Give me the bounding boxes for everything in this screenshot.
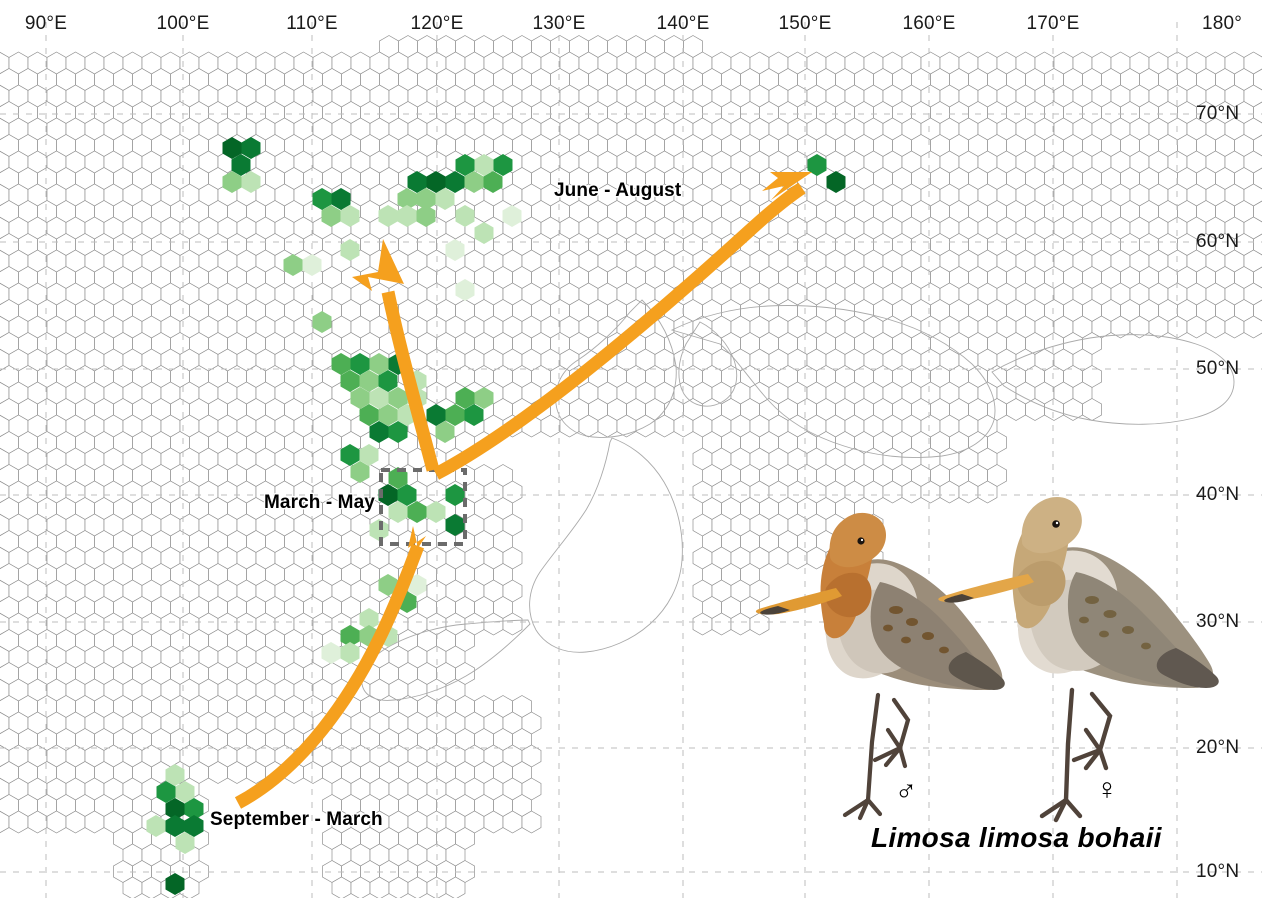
season-label-wintering: September - March — [210, 809, 383, 831]
longitude-tick-label: 160°E — [903, 13, 956, 35]
latitude-tick-label: 10°N — [1196, 861, 1239, 883]
migration-map-figure: 90°E100°E110°E120°E130°E140°E150°E160°E1… — [0, 0, 1262, 898]
hexagon-grid — [0, 36, 1262, 898]
latitude-tick-label: 70°N — [1196, 103, 1239, 125]
longitude-tick-label: 130°E — [533, 13, 586, 35]
male-godwit-sex-symbol: ♂ — [895, 776, 918, 806]
longitude-tick-label: 100°E — [157, 13, 210, 35]
season-label-staging: March - May — [264, 492, 375, 514]
longitude-tick-label: 180° — [1202, 13, 1242, 35]
species-name-label: Limosa limosa bohaii — [871, 822, 1162, 854]
longitude-tick-label: 170°E — [1027, 13, 1080, 35]
latitude-tick-label: 20°N — [1196, 737, 1239, 759]
latitude-tick-label: 30°N — [1196, 611, 1239, 633]
latitude-tick-label: 40°N — [1196, 484, 1239, 506]
longitude-tick-label: 110°E — [286, 13, 338, 35]
longitude-tick-label: 90°E — [25, 13, 67, 35]
latitude-tick-label: 50°N — [1196, 358, 1239, 380]
map-canvas — [0, 0, 1262, 898]
longitude-tick-label: 140°E — [657, 13, 710, 35]
latitude-tick-label: 60°N — [1196, 231, 1239, 253]
season-label-breeding: June - August — [554, 180, 681, 202]
female-godwit-sex-symbol: ♀ — [1096, 775, 1119, 805]
longitude-tick-label: 120°E — [411, 13, 464, 35]
longitude-tick-label: 150°E — [779, 13, 832, 35]
